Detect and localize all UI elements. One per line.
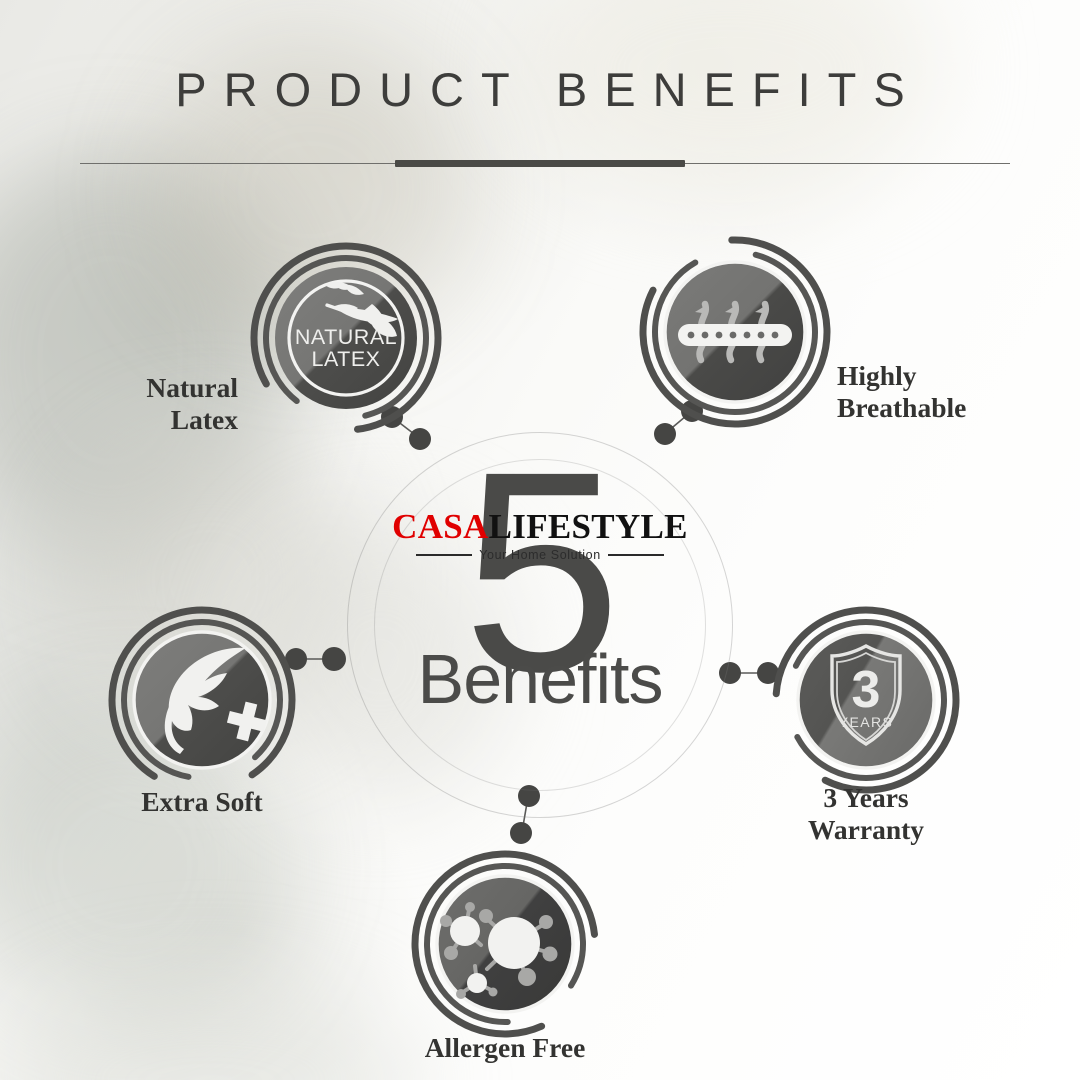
label-line-1: Natural bbox=[146, 372, 238, 404]
benefit-node-extra-soft[interactable]: Extra Soft bbox=[104, 602, 300, 798]
label-line-2: Latex bbox=[146, 404, 238, 436]
natural-latex-badge-line1: NATURAL bbox=[295, 325, 397, 349]
benefit-count-label: Benefits bbox=[347, 644, 733, 714]
brand-name-first: CASA bbox=[392, 507, 489, 546]
page-title: PRODUCT BENEFITS bbox=[0, 66, 1080, 113]
label-line-1: 3 Years bbox=[808, 782, 924, 814]
label-line-1: Extra Soft bbox=[141, 786, 262, 818]
benefit-label-natural-latex: Natural Latex bbox=[146, 372, 238, 436]
background-blob bbox=[0, 150, 280, 570]
brand-tagline-row: Your Home Solution bbox=[347, 548, 733, 562]
label-line-2: Breathable bbox=[837, 392, 966, 424]
label-line-1: Allergen Free bbox=[425, 1032, 586, 1064]
natural-latex-icon: NATURAL LATEX bbox=[248, 240, 444, 436]
title-divider bbox=[80, 159, 1010, 169]
background-blob bbox=[0, 980, 420, 1080]
benefit-node-warranty[interactable]: 3 YEARS 3 Years Warranty bbox=[768, 602, 964, 798]
tagline-rule-right bbox=[608, 554, 664, 555]
benefit-node-breathable[interactable]: Highly Breathable bbox=[637, 234, 833, 430]
benefit-node-allergen-free[interactable]: Allergen Free bbox=[407, 846, 603, 1042]
header: PRODUCT BENEFITS bbox=[0, 66, 1080, 113]
benefit-label-extra-soft: Extra Soft bbox=[141, 786, 262, 818]
brand-tagline: Your Home Solution bbox=[479, 548, 601, 562]
warranty-badge-number: 3 bbox=[852, 661, 881, 719]
tagline-rule-left bbox=[416, 554, 472, 555]
warranty-badge-unit: YEARS bbox=[839, 714, 893, 730]
molecule-germ-icon bbox=[407, 846, 603, 1042]
label-line-1: Highly bbox=[837, 360, 966, 392]
shield-icon: 3 YEARS bbox=[768, 602, 964, 798]
center-hub: 5 Benefits CASALIFESTYLE Your Home Solut… bbox=[347, 432, 733, 818]
brand-name: CASALIFESTYLE bbox=[347, 509, 733, 544]
benefit-label-breathable: Highly Breathable bbox=[837, 360, 966, 424]
label-line-2: Warranty bbox=[808, 814, 924, 846]
benefit-label-allergen-free: Allergen Free bbox=[425, 1032, 586, 1064]
divider-accent-bar bbox=[395, 160, 685, 167]
benefit-node-natural-latex[interactable]: NATURAL LATEX Natural Latex bbox=[248, 240, 444, 436]
poster-canvas: PRODUCT BENEFITS bbox=[0, 0, 1080, 1080]
natural-latex-badge-line2: LATEX bbox=[311, 347, 380, 371]
feather-plus-icon bbox=[104, 602, 300, 798]
benefit-label-warranty: 3 Years Warranty bbox=[808, 782, 924, 846]
brand-name-second: LIFESTYLE bbox=[489, 507, 688, 546]
airflow-arrows-icon bbox=[637, 234, 833, 430]
brand-logo: CASALIFESTYLE Your Home Solution bbox=[347, 509, 733, 562]
